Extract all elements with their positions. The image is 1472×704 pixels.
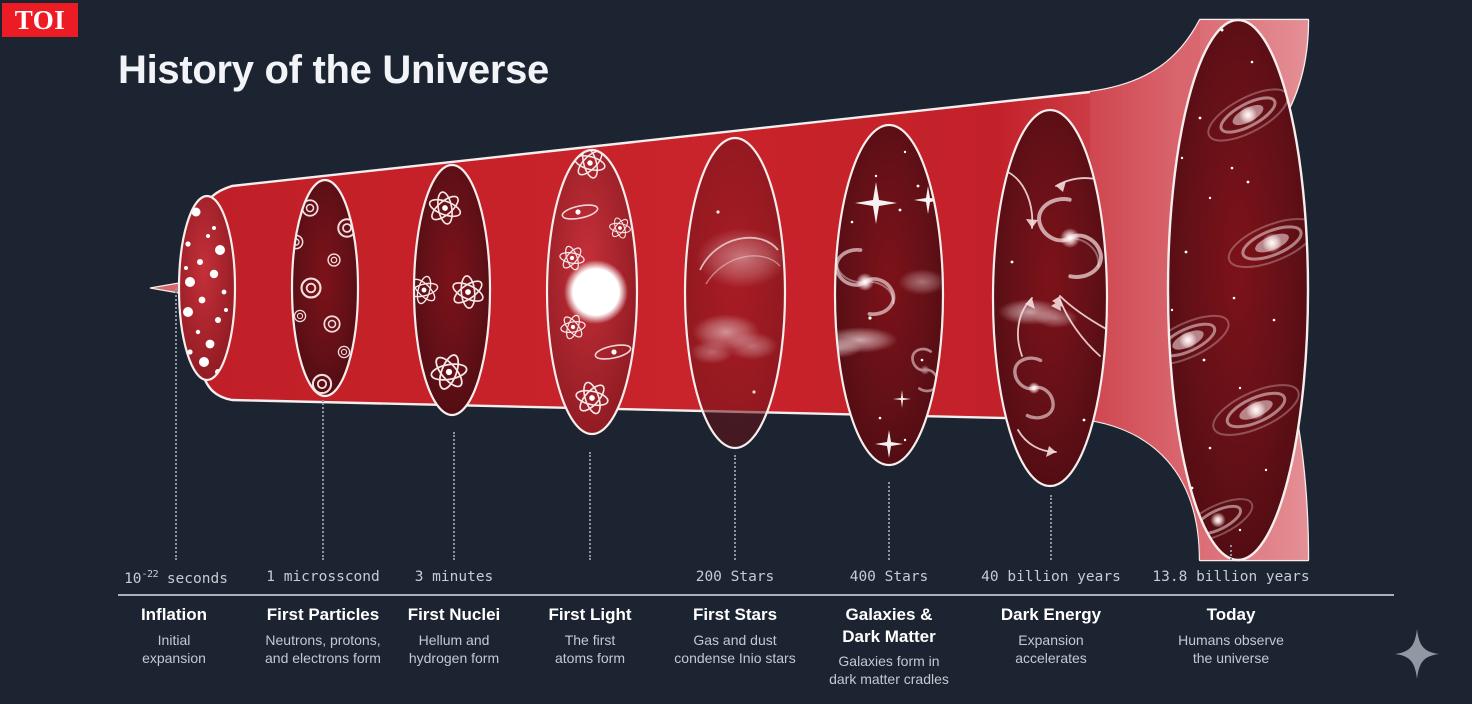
dark-energy-panel (993, 110, 1108, 486)
four-point-star-icon (1394, 628, 1440, 680)
toi-logo[interactable]: TOI (2, 3, 78, 37)
infographic-root: TOI History of the Universe 10-22 second… (0, 0, 1472, 704)
universe-cone-artwork (0, 0, 1472, 704)
toi-logo-text: TOI (15, 7, 66, 34)
page-title: History of the Universe (118, 48, 549, 93)
inflation-panel (179, 194, 235, 380)
